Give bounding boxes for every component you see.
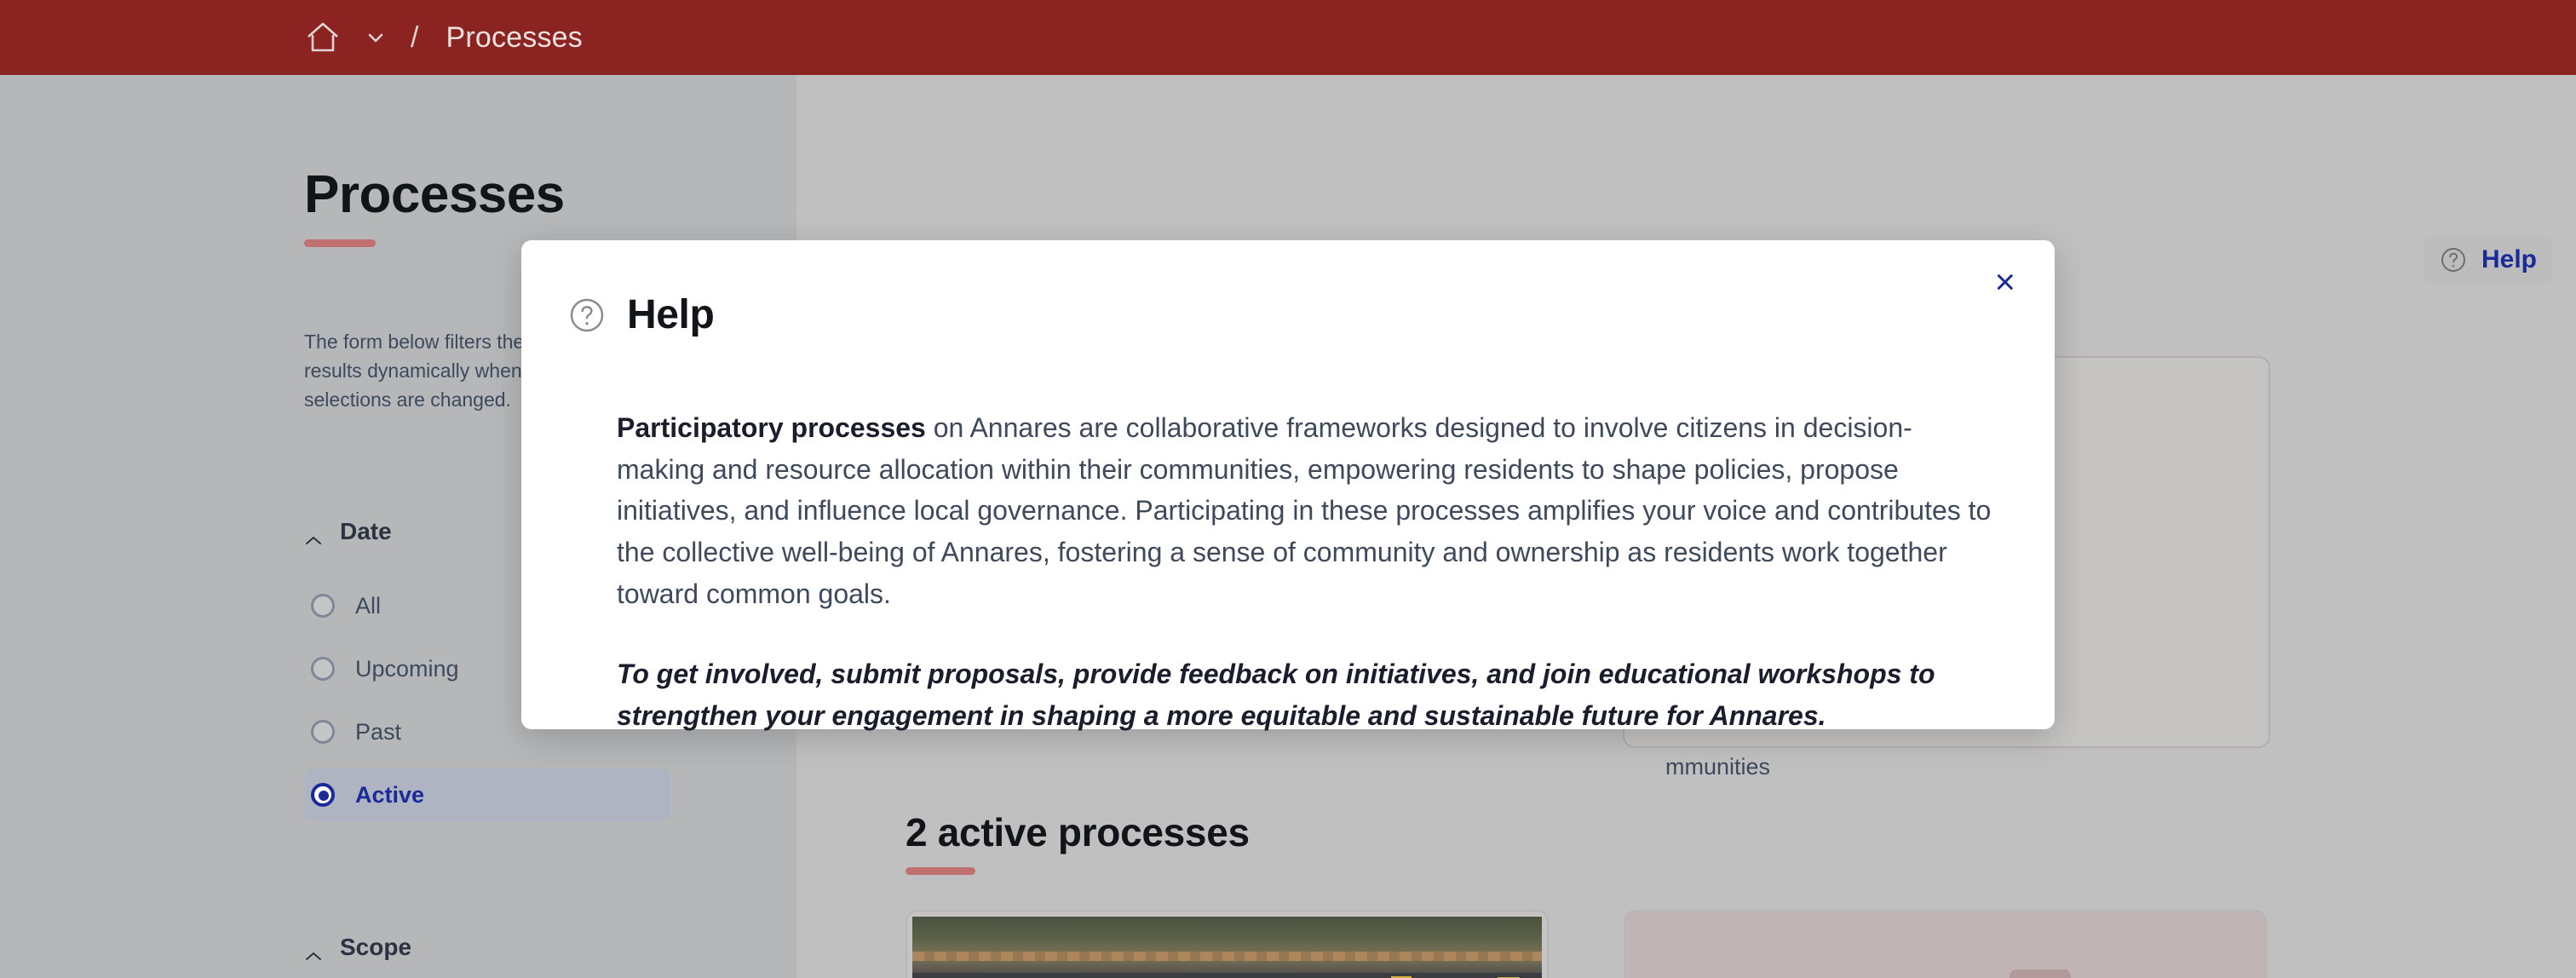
page-title: Processes	[304, 164, 565, 225]
filter-group-date-label: Date	[340, 518, 392, 545]
chevron-up-icon	[304, 941, 323, 953]
help-modal-body: Participatory processes on Annares are c…	[617, 407, 1997, 736]
chevron-down-icon[interactable]	[365, 26, 387, 49]
help-button[interactable]: Help	[2424, 237, 2552, 283]
page-title-accent-rule	[304, 239, 376, 247]
active-processes-heading: 2 active processes	[906, 809, 1250, 855]
active-heading-accent-rule	[906, 867, 975, 875]
process-card-image	[912, 917, 1542, 978]
help-modal-cta: To get involved, submit proposals, provi…	[617, 653, 1997, 736]
filter-option-label: All	[355, 593, 381, 619]
filter-option-label: Active	[355, 782, 424, 808]
radio-icon	[311, 657, 335, 681]
question-circle-icon	[567, 296, 607, 335]
help-modal: × Help Participatory processes on Annare…	[521, 240, 2055, 729]
filter-option-label: Upcoming	[355, 656, 459, 682]
help-modal-title: Help	[627, 291, 714, 338]
breadcrumb-separator: /	[411, 23, 418, 52]
top-navigation-bar: / Processes	[0, 0, 2576, 75]
process-card[interactable]	[1624, 910, 2267, 978]
help-modal-paragraph-lead: Participatory processes	[617, 412, 926, 443]
process-card-image	[2010, 969, 2071, 978]
highlighted-process-meta: mmunities	[1665, 754, 2211, 780]
filter-group-scope-label: Scope	[340, 934, 411, 961]
radio-icon	[311, 720, 335, 744]
close-icon[interactable]: ×	[1994, 264, 2015, 300]
breadcrumb-current[interactable]: Processes	[446, 21, 583, 55]
filter-option-label: Past	[355, 719, 401, 745]
radio-icon-selected	[311, 783, 335, 807]
home-icon[interactable]	[303, 18, 342, 57]
help-button-label: Help	[2481, 245, 2537, 274]
filter-group-scope-header[interactable]: Scope	[304, 934, 670, 961]
filter-option-date-active[interactable]: Active	[304, 768, 670, 821]
filter-group-scope: Scope All	[304, 934, 670, 978]
chevron-up-icon	[304, 526, 323, 538]
radio-icon	[311, 594, 335, 618]
help-modal-header: Help	[567, 291, 714, 338]
process-card[interactable]	[906, 910, 1549, 978]
help-modal-paragraph: Participatory processes on Annares are c…	[617, 407, 1997, 614]
question-circle-icon	[2439, 245, 2468, 274]
